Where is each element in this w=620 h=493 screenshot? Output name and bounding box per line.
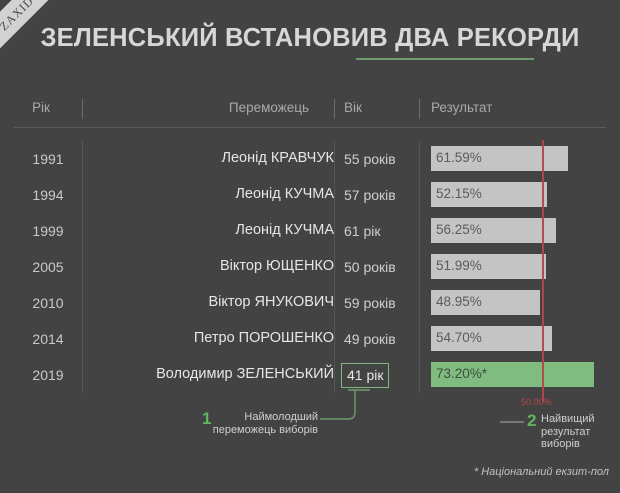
cell-winner: Леонід КУЧМА xyxy=(94,222,334,238)
fifty-percent-label: 50.00% xyxy=(521,397,552,407)
column-header-year: Рік xyxy=(32,100,50,115)
table-header-row: Рік Переможець Вік Результат xyxy=(14,94,606,127)
table-row: 2014Петро ПОРОШЕНКО49 років54.70% xyxy=(14,321,606,357)
cell-year: 1999 xyxy=(14,223,82,239)
header-separator-2 xyxy=(334,99,335,119)
records-table: Рік Переможець Вік Результат 1991Леонід … xyxy=(14,94,606,393)
cell-winner: Леонід КУЧМА xyxy=(94,186,334,202)
result-bar-container: 52.15% xyxy=(431,182,547,207)
result-bar-highlighted: 73.20%* xyxy=(431,362,594,387)
column-header-winner: Переможець xyxy=(204,100,334,115)
title-block: ЗЕЛЕНСЬКИЙ ВСТАНОВИВ ДВА РЕКОРДИ xyxy=(0,24,620,53)
result-bar: 56.25% xyxy=(431,218,556,243)
result-bar-label: 48.95% xyxy=(436,294,482,309)
result-bar: 51.99% xyxy=(431,254,546,279)
cell-year: 2010 xyxy=(14,295,82,311)
table-row: 2019Володимир ЗЕЛЕНСЬКИЙ41 рік73.20%* xyxy=(14,357,606,393)
cell-year: 1991 xyxy=(14,151,82,167)
result-bar-container: 54.70% xyxy=(431,326,552,351)
cell-age-highlighted: 41 рік xyxy=(341,363,389,388)
result-bar-container: 51.99% xyxy=(431,254,546,279)
cell-age: 55 років xyxy=(344,151,396,167)
table-row: 2005Віктор ЮЩЕНКО50 років51.99% xyxy=(14,249,606,285)
result-bar-label: 54.70% xyxy=(436,330,482,345)
table-row: 2010Віктор ЯНУКОВИЧ59 років48.95% xyxy=(14,285,606,321)
cell-winner: Володимир ЗЕЛЕНСЬКИЙ xyxy=(94,366,334,382)
result-bar-container: 73.20%* xyxy=(431,362,594,387)
result-bar-container: 61.59% xyxy=(431,146,568,171)
result-bar-label: 73.20%* xyxy=(436,366,487,381)
cell-winner: Віктор ЮЩЕНКО xyxy=(94,258,334,274)
cell-age: 57 років xyxy=(344,187,396,203)
title-underline-accent xyxy=(356,58,534,60)
result-bar: 54.70% xyxy=(431,326,552,351)
header-underline-rule xyxy=(14,127,606,128)
cell-age: 59 років xyxy=(344,295,396,311)
cell-year: 2005 xyxy=(14,259,82,275)
column-header-age: Вік xyxy=(344,100,362,115)
header-separator-3 xyxy=(419,99,420,119)
column-header-result: Результат xyxy=(431,100,492,115)
result-bar: 48.95% xyxy=(431,290,540,315)
result-bar: 61.59% xyxy=(431,146,568,171)
cell-winner: Петро ПОРОШЕНКО xyxy=(94,330,334,346)
result-bar-label: 56.25% xyxy=(436,222,482,237)
result-bar-container: 48.95% xyxy=(431,290,540,315)
table-row: 1999Леонід КУЧМА61 рік56.25% xyxy=(14,213,606,249)
infographic-root: ZAXID NET ЗЕЛЕНСЬКИЙ ВСТАНОВИВ ДВА РЕКОР… xyxy=(0,0,620,493)
connector-left xyxy=(320,390,355,419)
cell-winner: Леонід КРАВЧУК xyxy=(94,150,334,166)
result-bar-container: 56.25% xyxy=(431,218,556,243)
table-row: 1994Леонід КУЧМА57 років52.15% xyxy=(14,177,606,213)
cell-age: 61 рік xyxy=(344,223,380,239)
cell-year: 1994 xyxy=(14,187,82,203)
annotation-text-2: Найвищий результат виборів xyxy=(541,413,617,451)
table-body: 1991Леонід КРАВЧУК55 років61.59%1994Леон… xyxy=(14,141,606,393)
cell-year: 2019 xyxy=(14,367,82,383)
table-row: 1991Леонід КРАВЧУК55 років61.59% xyxy=(14,141,606,177)
cell-age: 49 років xyxy=(344,331,396,347)
result-bar: 52.15% xyxy=(431,182,547,207)
result-bar-label: 52.15% xyxy=(436,186,482,201)
result-bar-label: 51.99% xyxy=(436,258,482,273)
page-title: ЗЕЛЕНСЬКИЙ ВСТАНОВИВ ДВА РЕКОРДИ xyxy=(41,24,580,53)
annotation-marker-2: 2 xyxy=(527,411,536,431)
cell-year: 2014 xyxy=(14,331,82,347)
cell-winner: Віктор ЯНУКОВИЧ xyxy=(94,294,334,310)
footnote-text: * Національний екзит-пол xyxy=(419,466,609,478)
cell-age: 50 років xyxy=(344,259,396,275)
result-bar-label: 61.59% xyxy=(436,150,482,165)
fifty-percent-reference-line xyxy=(542,140,544,402)
annotation-text-1: Наймолодший переможець виборів xyxy=(188,411,318,436)
header-separator-1 xyxy=(82,99,83,119)
